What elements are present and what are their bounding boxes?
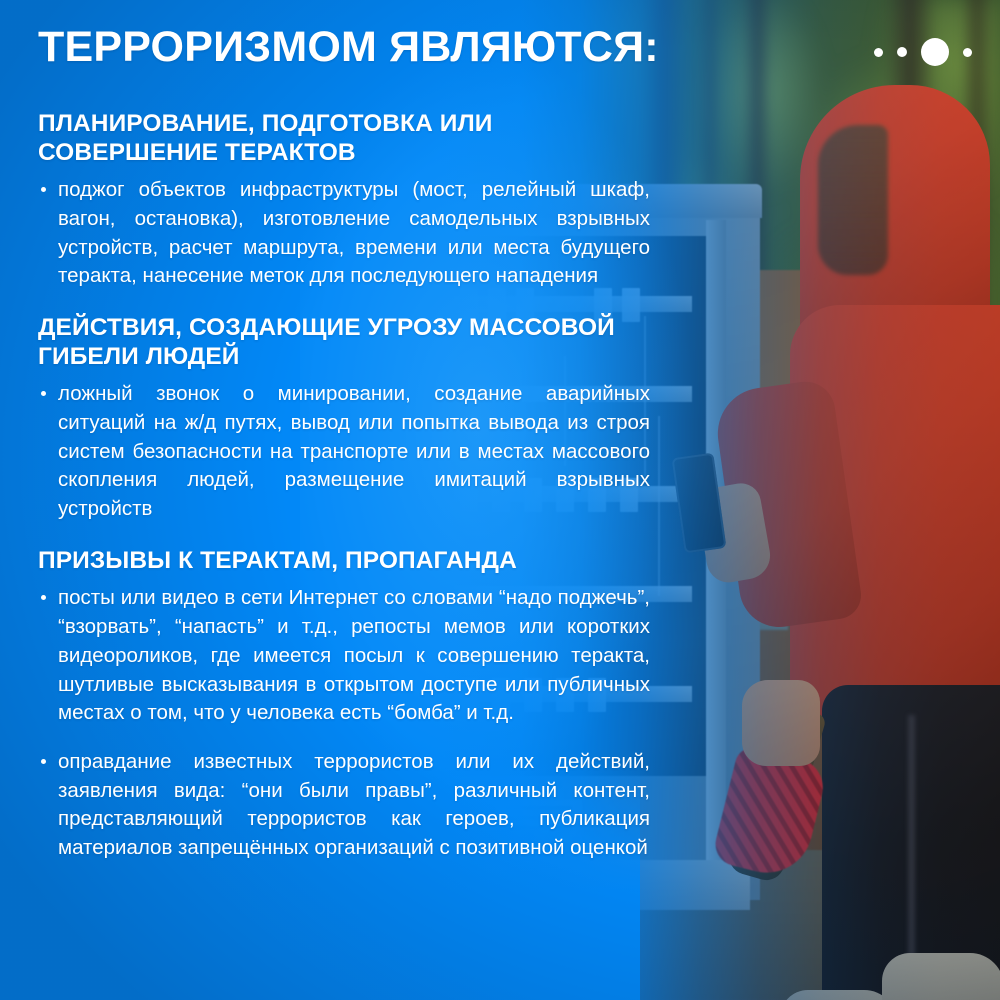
bullet-list: посты или видео в сети Интернет со слова… [38,584,650,862]
pagination-dot-4[interactable] [963,48,972,57]
slide-content: ТЕРРОРИЗМОМ ЯВЛЯЮТСЯ: ПЛАНИРОВАНИЕ, ПОДГ… [0,0,1000,1000]
bullet-list: ложный звонок о минировании, создание ав… [38,380,650,523]
sections-list: ПЛАНИРОВАНИЕ, ПОДГОТОВКА ИЛИ СОВЕРШЕНИЕ … [38,110,650,869]
section-calls-and-propaganda: ПРИЗЫВЫ К ТЕРАКТАМ, ПРОПАГАНДА посты или… [38,547,650,863]
page-title: ТЕРРОРИЗМОМ ЯВЛЯЮТСЯ: [38,25,659,70]
list-item: оправдание известных террористов или их … [38,748,650,863]
pagination-dot-1[interactable] [874,48,883,57]
pagination-dots[interactable] [874,38,972,66]
section-mass-death-threat: ДЕЙСТВИЯ, СОЗДАЮЩИЕ УГРОЗУ МАССОВОЙ ГИБЕ… [38,314,650,524]
list-item: ложный звонок о минировании, создание ав… [38,380,650,523]
list-item: посты или видео в сети Интернет со слова… [38,584,650,727]
section-heading: ПЛАНИРОВАНИЕ, ПОДГОТОВКА ИЛИ СОВЕРШЕНИЕ … [38,110,650,167]
list-item: поджог объектов инфраструктуры (мост, ре… [38,176,650,291]
section-planning: ПЛАНИРОВАНИЕ, ПОДГОТОВКА ИЛИ СОВЕРШЕНИЕ … [38,110,650,291]
bullet-list: поджог объектов инфраструктуры (мост, ре… [38,176,650,291]
section-heading: ПРИЗЫВЫ К ТЕРАКТАМ, ПРОПАГАНДА [38,547,650,576]
infographic-slide: ТЕРРОРИЗМОМ ЯВЛЯЮТСЯ: ПЛАНИРОВАНИЕ, ПОДГ… [0,0,1000,1000]
pagination-dot-2[interactable] [897,47,907,57]
section-heading: ДЕЙСТВИЯ, СОЗДАЮЩИЕ УГРОЗУ МАССОВОЙ ГИБЕ… [38,314,650,371]
pagination-dot-3-active[interactable] [921,38,949,66]
